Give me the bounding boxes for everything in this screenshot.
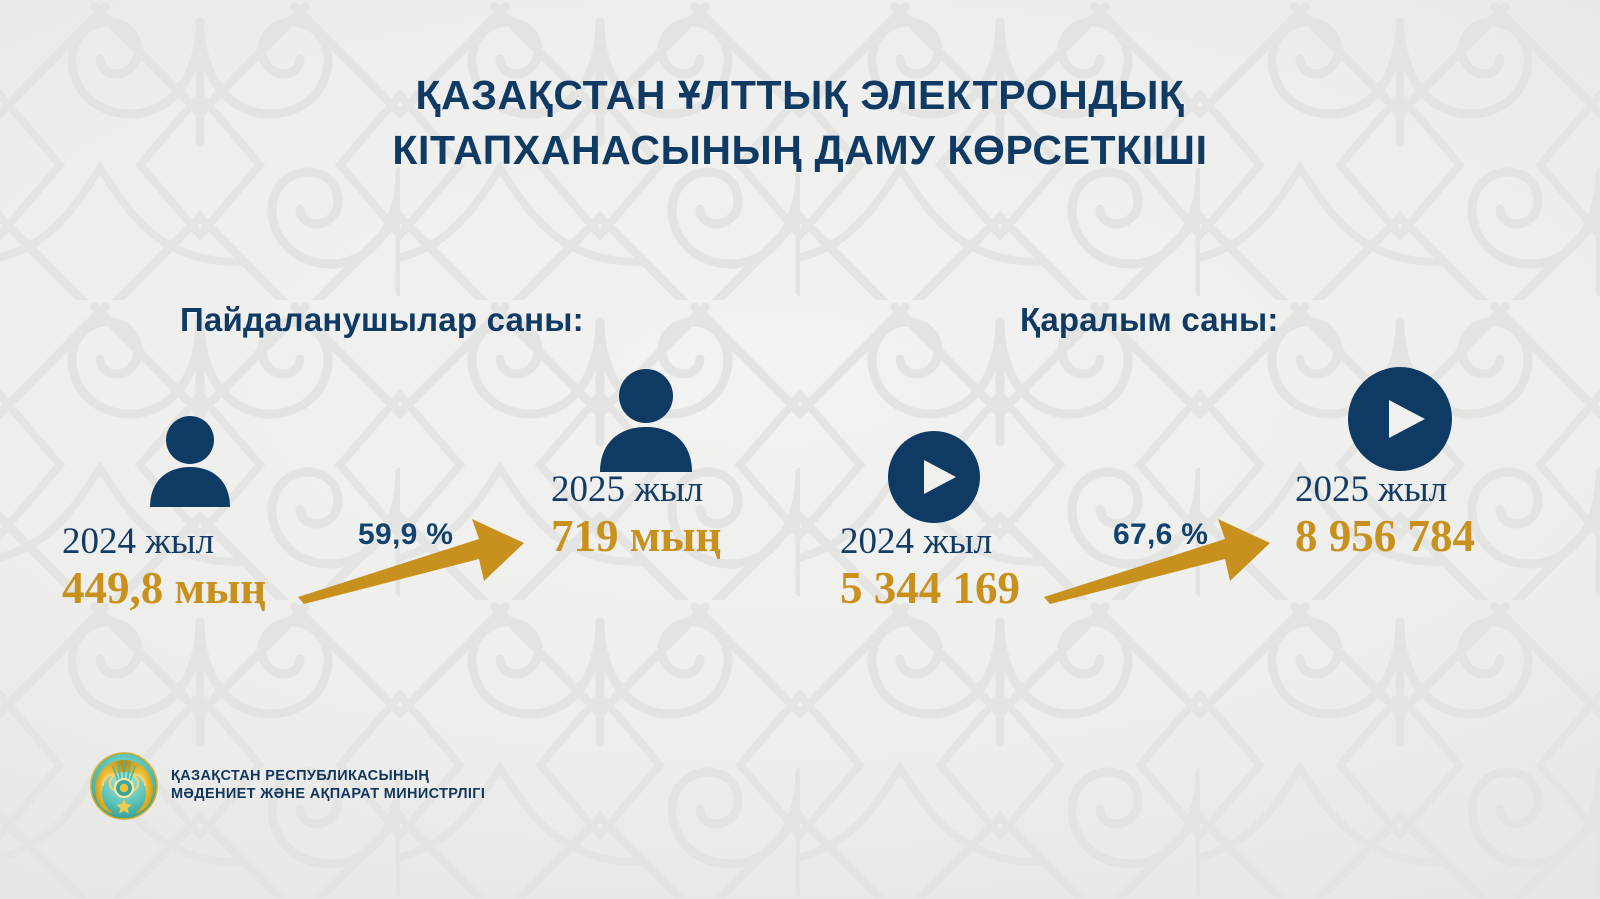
stat-value: 5 344 169 bbox=[840, 562, 1020, 614]
title-line-1: ҚАЗАҚСТАН ҰЛТТЫҚ ЭЛЕКТРОНДЫҚ bbox=[0, 68, 1600, 123]
stat-year-label: 2025 жыл bbox=[1295, 471, 1475, 510]
page-title: ҚАЗАҚСТАН ҰЛТТЫҚ ЭЛЕКТРОНДЫҚ КІТАПХАНАСЫ… bbox=[0, 68, 1600, 177]
stat-year-label: 2024 жыл bbox=[840, 523, 1020, 562]
title-line-2: КІТАПХАНАСЫНЫҢ ДАМУ КӨРСЕТКІШІ bbox=[0, 123, 1600, 178]
kazakhstan-emblem-icon bbox=[90, 752, 158, 820]
stat-users-2024: 2024 жыл 449,8 мың bbox=[62, 523, 266, 614]
stat-views-2024: 2024 жыл 5 344 169 bbox=[840, 523, 1020, 614]
stat-views-2025: 2025 жыл 8 956 784 bbox=[1295, 471, 1475, 562]
play-icon bbox=[1348, 367, 1452, 471]
section-heading-users: Пайдаланушылар саны: bbox=[180, 301, 584, 339]
growth-percent-views: 67,6 % bbox=[1113, 518, 1208, 552]
growth-percent-users: 59,9 % bbox=[358, 518, 453, 552]
ministry-line-1: ҚАЗАҚСТАН РЕСПУБЛИКАСЫНЫҢ bbox=[171, 768, 485, 786]
stat-year-label: 2024 жыл bbox=[62, 523, 266, 562]
infographic-poster: ҚАЗАҚСТАН ҰЛТТЫҚ ЭЛЕКТРОНДЫҚ КІТАПХАНАСЫ… bbox=[0, 0, 1600, 899]
section-heading-views: Қаралым саны: bbox=[1020, 301, 1279, 339]
stat-value: 8 956 784 bbox=[1295, 510, 1475, 562]
stat-value: 719 мың bbox=[551, 510, 721, 562]
stat-users-2025: 2025 жыл 719 мың bbox=[551, 471, 721, 562]
ministry-logo: ҚАЗАҚСТАН РЕСПУБЛИКАСЫНЫҢ МӘДЕНИЕТ ЖӘНЕ … bbox=[90, 752, 485, 820]
user-icon bbox=[148, 415, 232, 507]
stat-value: 449,8 мың bbox=[62, 562, 266, 614]
ministry-name: ҚАЗАҚСТАН РЕСПУБЛИКАСЫНЫҢ МӘДЕНИЕТ ЖӘНЕ … bbox=[171, 768, 485, 803]
play-icon bbox=[888, 431, 980, 523]
user-icon bbox=[598, 368, 694, 472]
stat-year-label: 2025 жыл bbox=[551, 471, 721, 510]
ministry-line-2: МӘДЕНИЕТ ЖӘНЕ АҚПАРАТ МИНИСТРЛІГІ bbox=[171, 786, 485, 804]
